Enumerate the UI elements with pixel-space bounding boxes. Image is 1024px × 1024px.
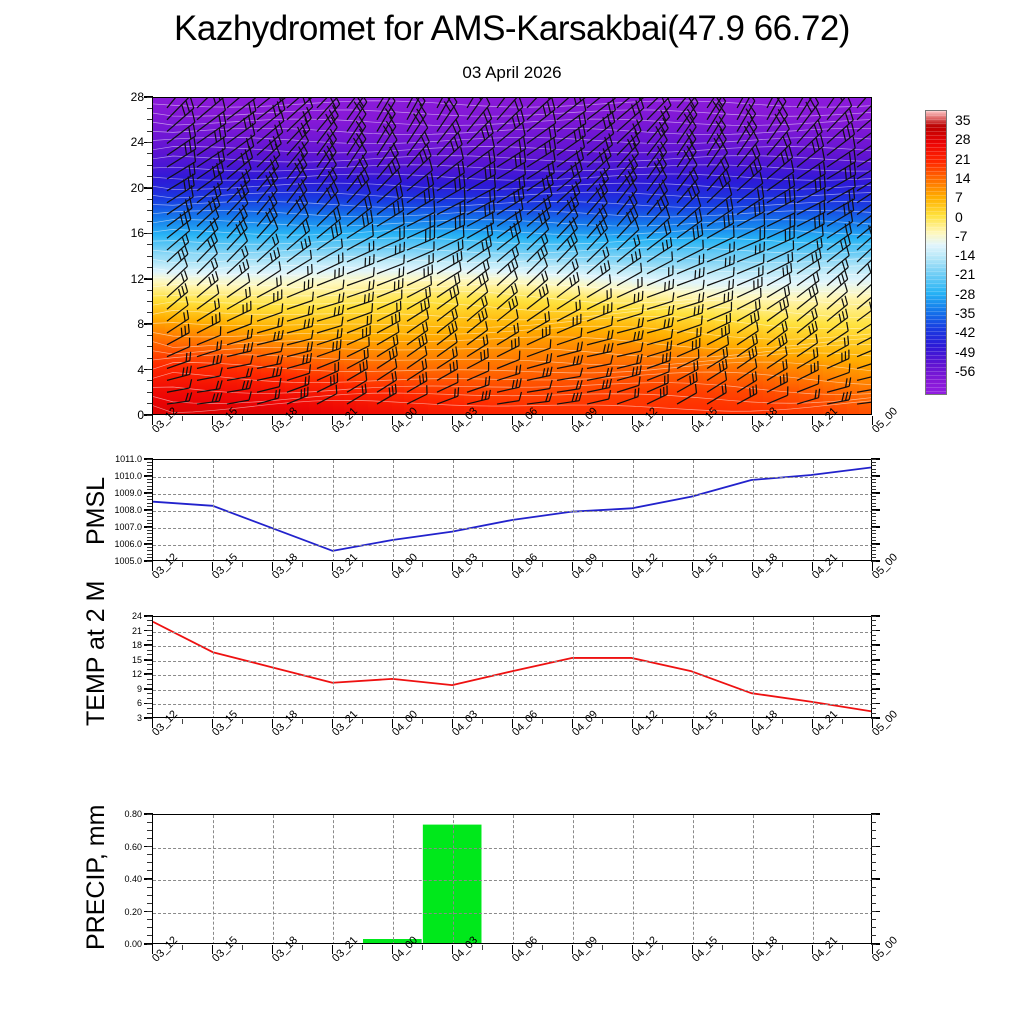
sounding-y-tick-minor [147, 153, 152, 154]
sounding-y-tick-label: 16 [106, 226, 144, 240]
colorbar-tick-label: 14 [955, 170, 971, 186]
sounding-y-tick-minor [147, 358, 152, 359]
x-tick-minor [302, 719, 303, 724]
grid-line-vertical [333, 815, 334, 944]
y-tick-minor [147, 476, 152, 477]
sounding-y-tick-minor [147, 165, 152, 166]
y-tick-minor-right [871, 476, 876, 477]
x-tick-minor [302, 562, 303, 567]
y-tick-minor [147, 822, 152, 823]
y-tick-minor [147, 654, 152, 655]
y-tick-minor [147, 870, 152, 871]
y-tick-minor-right [871, 503, 876, 504]
y-tick-minor-right [871, 669, 876, 670]
y-tick-minor-right [871, 527, 876, 528]
y-tick-minor [147, 854, 152, 855]
x-tick-minor [842, 562, 843, 567]
y-tick-minor-right [871, 537, 876, 538]
y-tick-minor-right [871, 903, 876, 904]
y-tick-minor [147, 554, 152, 555]
y-tick-label: 6 [122, 698, 142, 708]
x-tick-minor [302, 416, 303, 421]
sounding-y-tick-minor [147, 97, 152, 98]
sounding-y-tick-label: 24 [106, 135, 144, 149]
y-tick-minor-right [871, 645, 876, 646]
sounding-y-tick-minor [147, 312, 152, 313]
y-tick-minor [147, 527, 152, 528]
y-tick-minor [147, 664, 152, 665]
colorbar-tick-label: -35 [955, 305, 975, 321]
y-tick-minor-right [871, 688, 876, 689]
colorbar-tick-label: 28 [955, 131, 971, 147]
x-tick-label: 05_00 [870, 551, 900, 581]
y-tick-minor [147, 713, 152, 714]
y-tick-minor-right [871, 679, 876, 680]
y-tick-minor [147, 659, 152, 660]
y-tick-minor-right [871, 703, 876, 704]
y-tick-minor [147, 919, 152, 920]
x-tick-minor [662, 416, 663, 421]
y-tick-minor [147, 520, 152, 521]
sounding-y-tick-minor [147, 233, 152, 234]
colorbar-tick-label: 21 [955, 151, 971, 167]
y-tick-minor-right [871, 935, 876, 936]
y-tick-minor [147, 688, 152, 689]
x-tick-minor [362, 562, 363, 567]
y-tick-minor-right [871, 616, 876, 617]
y-tick-minor [147, 533, 152, 534]
temperature-colorbar [925, 110, 947, 395]
colorbar-tick-label: 35 [955, 112, 971, 128]
x-tick-minor [482, 719, 483, 724]
y-tick-minor-right [871, 854, 876, 855]
y-tick-minor-right [871, 650, 876, 651]
y-tick-minor-right [871, 459, 876, 460]
x-tick-minor [362, 416, 363, 421]
y-tick-minor-right [871, 640, 876, 641]
grid-line-vertical [633, 617, 634, 718]
grid-line-vertical [273, 460, 274, 561]
colorbar-tick-label: -42 [955, 324, 975, 340]
y-tick-label: 0.40 [110, 874, 142, 884]
weather-meteogram-page: Kazhydromet for AMS-Karsakbai(47.9 66.72… [0, 0, 1024, 1024]
colorbar-tick-label: 7 [955, 189, 963, 205]
y-tick-minor-right [871, 838, 876, 839]
y-tick-minor [147, 462, 152, 463]
x-tick-minor [722, 719, 723, 724]
y-tick-minor [147, 496, 152, 497]
grid-line-vertical [393, 460, 394, 561]
sounding-y-tick-label: 20 [106, 181, 144, 195]
y-tick-minor-right [871, 693, 876, 694]
grid-line-vertical [213, 617, 214, 718]
y-tick-minor [147, 650, 152, 651]
y-tick-minor [147, 669, 152, 670]
y-tick-minor [147, 887, 152, 888]
sounding-y-tick-label: 12 [106, 272, 144, 286]
sounding-y-tick-minor [147, 210, 152, 211]
grid-line-vertical [813, 815, 814, 944]
y-tick-minor-right [871, 879, 876, 880]
y-tick-minor-right [871, 684, 876, 685]
x-tick-minor [722, 416, 723, 421]
x-tick-minor [542, 562, 543, 567]
y-tick-label: 21 [122, 626, 142, 636]
y-tick-minor [147, 557, 152, 558]
y-tick-minor-right [871, 486, 876, 487]
y-tick-label: 9 [122, 684, 142, 694]
y-tick-label: 1011.0 [98, 454, 142, 464]
x-tick-minor [242, 562, 243, 567]
y-tick-minor [147, 547, 152, 548]
sounding-y-tick-label: 8 [106, 317, 144, 331]
y-tick-minor [147, 625, 152, 626]
precip-bars [153, 815, 871, 943]
grid-line-vertical [513, 815, 514, 944]
grid-line-vertical [813, 617, 814, 718]
y-tick-minor-right [871, 550, 876, 551]
y-tick-minor-right [871, 479, 876, 480]
y-tick-minor [147, 635, 152, 636]
x-tick-minor [182, 416, 183, 421]
y-tick-minor-right [871, 496, 876, 497]
sounding-y-tick-minor [147, 392, 152, 393]
grid-line-vertical [633, 460, 634, 561]
y-tick-minor [147, 472, 152, 473]
sounding-y-tick-minor [147, 244, 152, 245]
y-tick-minor-right [871, 674, 876, 675]
y-tick-minor-right [871, 630, 876, 631]
grid-line-vertical [573, 617, 574, 718]
sounding-y-tick-minor [147, 369, 152, 370]
sounding-y-tick-minor [147, 108, 152, 109]
y-tick-label: 12 [122, 669, 142, 679]
y-tick-minor [147, 830, 152, 831]
y-tick-minor-right [871, 523, 876, 524]
sounding-y-tick-minor [147, 187, 152, 188]
grid-line-vertical [333, 617, 334, 718]
x-tick-minor [182, 945, 183, 950]
x-tick-minor [302, 945, 303, 950]
y-tick-minor [147, 838, 152, 839]
y-tick-minor-right [871, 862, 876, 863]
y-tick-label: 1007.0 [98, 522, 142, 532]
grid-line-vertical [753, 460, 754, 561]
y-tick-minor [147, 469, 152, 470]
y-tick-minor [147, 879, 152, 880]
y-tick-minor-right [871, 554, 876, 555]
y-tick-minor [147, 814, 152, 815]
y-tick-minor-right [871, 814, 876, 815]
grid-line-vertical [573, 460, 574, 561]
x-tick-minor [422, 416, 423, 421]
sounding-plot-area [152, 97, 872, 415]
x-tick-minor [542, 416, 543, 421]
grid-line-vertical [573, 815, 574, 944]
sounding-y-tick-minor [147, 380, 152, 381]
y-tick-minor-right [871, 870, 876, 871]
y-tick-minor-right [871, 659, 876, 660]
x-tick-minor [842, 945, 843, 950]
y-tick-label: 1010.0 [98, 471, 142, 481]
y-tick-minor-right [871, 533, 876, 534]
y-tick-minor [147, 935, 152, 936]
y-tick-minor-right [871, 625, 876, 626]
precip-plot-area [152, 814, 872, 944]
y-tick-minor [147, 630, 152, 631]
sounding-y-tick-minor [147, 346, 152, 347]
y-tick-minor [147, 540, 152, 541]
sounding-y-tick-minor [147, 119, 152, 120]
y-tick-label: 0.20 [110, 907, 142, 917]
y-tick-minor [147, 506, 152, 507]
y-tick-label: 1008.0 [98, 505, 142, 515]
colorbar-tick-label: 0 [955, 209, 963, 225]
y-tick-minor-right [871, 713, 876, 714]
y-tick-minor [147, 513, 152, 514]
y-tick-minor-right [871, 506, 876, 507]
y-tick-minor-right [871, 927, 876, 928]
x-tick-minor [422, 562, 423, 567]
sounding-y-tick-minor [147, 199, 152, 200]
sounding-y-tick-minor [147, 267, 152, 268]
grid-line-vertical [453, 460, 454, 561]
y-tick-minor [147, 903, 152, 904]
sounding-y-tick-label: 4 [106, 363, 144, 377]
y-tick-minor [147, 620, 152, 621]
y-tick-minor [147, 846, 152, 847]
page-subtitle: 03 April 2026 [0, 63, 1024, 83]
y-tick-minor [147, 516, 152, 517]
y-tick-minor [147, 465, 152, 466]
y-tick-minor-right [871, 482, 876, 483]
y-tick-minor [147, 510, 152, 511]
grid-line-vertical [213, 815, 214, 944]
y-tick-minor-right [871, 544, 876, 545]
y-tick-minor-right [871, 698, 876, 699]
y-tick-minor-right [871, 472, 876, 473]
y-tick-minor-right [871, 895, 876, 896]
grid-line-vertical [453, 815, 454, 944]
y-tick-minor [147, 479, 152, 480]
x-tick-minor [782, 562, 783, 567]
y-tick-minor [147, 550, 152, 551]
y-tick-label: 24 [122, 611, 142, 621]
y-tick-minor-right [871, 911, 876, 912]
colorbar-tick-label: -56 [955, 363, 975, 379]
y-tick-label: 3 [122, 713, 142, 723]
x-tick-minor [602, 416, 603, 421]
colorbar-tick-label: -49 [955, 344, 975, 360]
y-tick-minor [147, 927, 152, 928]
x-tick-minor [482, 416, 483, 421]
y-tick-minor-right [871, 846, 876, 847]
y-tick-minor [147, 503, 152, 504]
grid-line-vertical [513, 460, 514, 561]
page-title: Kazhydromet for AMS-Karsakbai(47.9 66.72… [0, 8, 1024, 50]
sounding-y-tick-minor [147, 142, 152, 143]
y-tick-minor-right [871, 493, 876, 494]
y-tick-minor [147, 537, 152, 538]
x-tick-minor [482, 945, 483, 950]
grid-line-vertical [453, 617, 454, 718]
grid-line-vertical [393, 815, 394, 944]
x-tick-minor [242, 416, 243, 421]
grid-line-vertical [753, 617, 754, 718]
x-tick-minor [602, 719, 603, 724]
colorbar-tick-label: -21 [955, 266, 975, 282]
y-tick-minor [147, 499, 152, 500]
y-tick-minor [147, 703, 152, 704]
y-tick-label: 1009.0 [98, 488, 142, 498]
y-tick-minor [147, 911, 152, 912]
sounding-y-tick-minor [147, 324, 152, 325]
y-tick-minor [147, 616, 152, 617]
y-tick-minor-right [871, 540, 876, 541]
x-tick-minor [422, 719, 423, 724]
grid-line-vertical [213, 460, 214, 561]
y-tick-label: 0.80 [110, 809, 142, 819]
x-tick-minor [782, 945, 783, 950]
y-tick-label: 1005.0 [98, 556, 142, 566]
x-tick-minor [182, 719, 183, 724]
x-tick-minor [782, 416, 783, 421]
x-tick-minor [602, 562, 603, 567]
x-tick-minor [242, 719, 243, 724]
y-tick-minor-right [871, 499, 876, 500]
x-tick-minor [482, 562, 483, 567]
y-tick-label: 0.60 [110, 842, 142, 852]
y-tick-minor [147, 523, 152, 524]
y-tick-minor [147, 544, 152, 545]
colorbar-tick-label: -14 [955, 247, 975, 263]
x-tick-minor [662, 719, 663, 724]
x-tick-minor [722, 945, 723, 950]
sounding-y-tick-minor [147, 301, 152, 302]
y-tick-minor [147, 708, 152, 709]
y-tick-minor [147, 895, 152, 896]
grid-line-vertical [273, 815, 274, 944]
x-tick-minor [602, 945, 603, 950]
y-tick-minor [147, 693, 152, 694]
y-tick-minor-right [871, 654, 876, 655]
grid-line-vertical [693, 460, 694, 561]
sounding-y-tick-label: 0 [106, 408, 144, 422]
x-tick-minor [842, 719, 843, 724]
y-tick-minor-right [871, 557, 876, 558]
y-tick-minor-right [871, 708, 876, 709]
sounding-y-tick-minor [147, 221, 152, 222]
y-tick-minor-right [871, 887, 876, 888]
colorbar-tick-label: -7 [955, 228, 967, 244]
grid-line-vertical [693, 815, 694, 944]
grid-line-vertical [393, 617, 394, 718]
x-tick-minor [242, 945, 243, 950]
sounding-y-tick-minor [147, 176, 152, 177]
y-tick-minor [147, 530, 152, 531]
y-tick-label: 15 [122, 655, 142, 665]
y-tick-minor [147, 645, 152, 646]
y-tick-minor-right [871, 530, 876, 531]
x-tick-minor [182, 562, 183, 567]
grid-line-vertical [333, 460, 334, 561]
y-tick-minor-right [871, 513, 876, 514]
y-tick-minor-right [871, 547, 876, 548]
wind-barbs-overlay [153, 98, 871, 414]
precip-axis-label: PRECIP, mm [82, 805, 111, 950]
sounding-y-tick-label: 28 [106, 90, 144, 104]
temp-axis-label: TEMP at 2 M [82, 581, 111, 726]
y-tick-minor [147, 679, 152, 680]
grid-line-vertical [813, 460, 814, 561]
y-tick-label: 1006.0 [98, 539, 142, 549]
x-tick-minor [722, 562, 723, 567]
y-tick-minor-right [871, 520, 876, 521]
y-tick-label: 18 [122, 640, 142, 650]
grid-line-vertical [753, 815, 754, 944]
temp-plot-area [152, 616, 872, 718]
y-tick-minor-right [871, 469, 876, 470]
y-tick-minor [147, 674, 152, 675]
sounding-y-tick-minor [147, 131, 152, 132]
y-tick-minor-right [871, 830, 876, 831]
x-tick-minor [782, 719, 783, 724]
y-tick-minor [147, 459, 152, 460]
y-tick-minor-right [871, 489, 876, 490]
y-tick-minor [147, 640, 152, 641]
grid-line-vertical [273, 617, 274, 718]
x-tick-minor [422, 945, 423, 950]
x-tick-label: 05_00 [870, 405, 900, 435]
y-tick-minor [147, 684, 152, 685]
y-tick-minor [147, 482, 152, 483]
y-tick-minor [147, 486, 152, 487]
y-tick-minor-right [871, 510, 876, 511]
x-tick-minor [542, 719, 543, 724]
sounding-y-tick-minor [147, 278, 152, 279]
y-tick-minor [147, 862, 152, 863]
y-tick-minor-right [871, 822, 876, 823]
grid-line-vertical [693, 617, 694, 718]
y-tick-minor [147, 493, 152, 494]
x-tick-label: 05_00 [870, 934, 900, 964]
sounding-y-tick-minor [147, 290, 152, 291]
x-tick-minor [842, 416, 843, 421]
sounding-y-tick-minor [147, 403, 152, 404]
x-tick-minor [662, 945, 663, 950]
colorbar-tick-label: -28 [955, 286, 975, 302]
x-tick-minor [662, 562, 663, 567]
y-tick-label: 0.00 [110, 939, 142, 949]
grid-line-vertical [633, 815, 634, 944]
y-tick-minor [147, 698, 152, 699]
sounding-y-tick-minor [147, 335, 152, 336]
y-tick-minor-right [871, 620, 876, 621]
x-tick-minor [362, 719, 363, 724]
y-tick-minor-right [871, 462, 876, 463]
pmsl-plot-area [152, 459, 872, 561]
y-tick-minor-right [871, 635, 876, 636]
y-tick-minor-right [871, 516, 876, 517]
x-tick-minor [362, 945, 363, 950]
y-tick-minor-right [871, 465, 876, 466]
x-tick-minor [542, 945, 543, 950]
grid-line-vertical [513, 617, 514, 718]
y-tick-minor-right [871, 664, 876, 665]
y-tick-minor-right [871, 919, 876, 920]
sounding-y-tick-minor [147, 256, 152, 257]
y-tick-minor [147, 489, 152, 490]
